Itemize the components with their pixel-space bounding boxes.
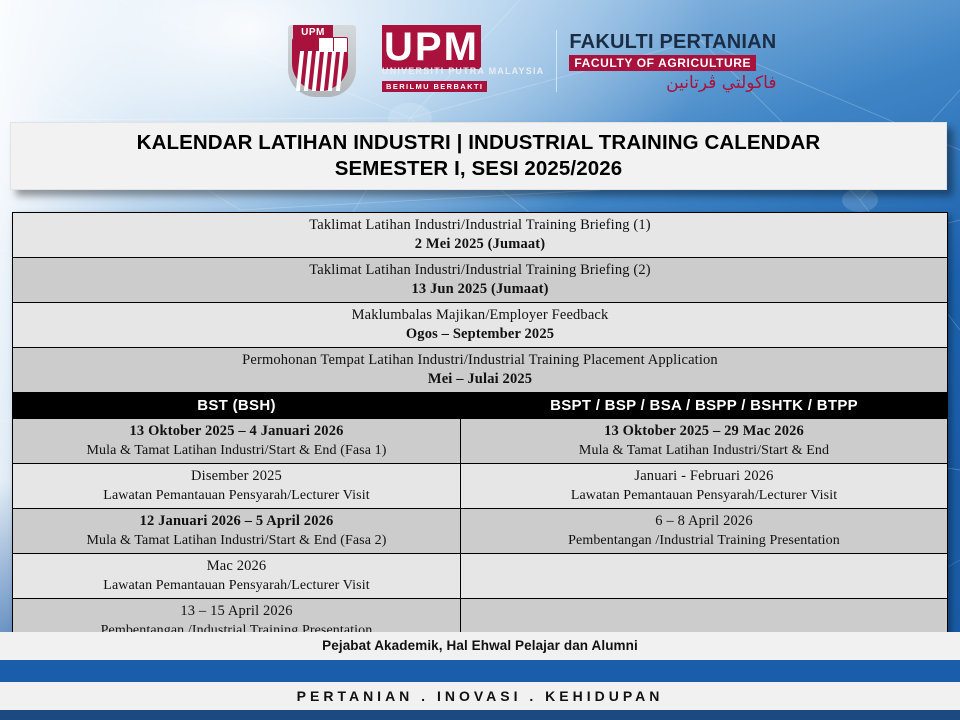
table-row: 12 Januari 2026 – 5 April 2026Mula & Tam…: [13, 509, 948, 554]
date-text: 13 Oktober 2025 – 4 Januari 2026: [17, 422, 456, 441]
calendar-cell-right: 13 Oktober 2025 – 29 Mac 2026Mula & Tama…: [461, 419, 948, 464]
crest-stripes-icon: [296, 51, 346, 91]
date-text: 6 – 8 April 2026: [465, 512, 943, 531]
activity-text: Maklumbalas Majikan/Employer Feedback: [17, 306, 943, 325]
activity-text: Lawatan Pemantauan Pensyarah/Lecturer Vi…: [17, 486, 456, 505]
faculty-name-ms: FAKULTI PERTANIAN: [569, 32, 776, 53]
footer-tagline-band: PERTANIAN . INOVASI . KEHIDUPAN: [0, 682, 960, 710]
table-row: Maklumbalas Majikan/Employer FeedbackOgo…: [13, 303, 948, 348]
activity-text: Lawatan Pemantauan Pensyarah/Lecturer Vi…: [465, 486, 943, 505]
date-text: 13 Oktober 2025 – 29 Mac 2026: [465, 422, 943, 441]
footer-tagline-text: PERTANIAN . INOVASI . KEHIDUPAN: [0, 682, 960, 710]
calendar-cell-left: 13 Oktober 2025 – 4 Januari 2026Mula & T…: [13, 419, 461, 464]
date-text: Disember 2025: [17, 467, 456, 486]
calendar-cell-left: Mac 2026Lawatan Pemantauan Pensyarah/Lec…: [13, 554, 461, 599]
activity-text: Pembentangan /Industrial Training Presen…: [465, 531, 943, 550]
calendar-cell-full: Maklumbalas Majikan/Employer FeedbackOgo…: [13, 303, 948, 348]
activity-text: Mula & Tamat Latihan Industri/Start & En…: [17, 441, 456, 460]
table-row: Taklimat Latihan Industri/Industrial Tra…: [13, 213, 948, 258]
faculty-name-jawi: فاكولتي ڤرتانين: [569, 73, 776, 93]
faculty-name-en: FACULTY OF AGRICULTURE: [569, 55, 756, 71]
header-band: UPM UPM UNIVERSITI PUTRA MALAYSIA BERILM…: [0, 0, 960, 118]
calendar-cell-left: Disember 2025Lawatan Pemantauan Pensyara…: [13, 464, 461, 509]
date-text: 12 Januari 2026 – 5 April 2026: [17, 512, 456, 531]
calendar-cell-right: 6 – 8 April 2026Pembentangan /Industrial…: [461, 509, 948, 554]
calendar-cell-right: [461, 554, 948, 599]
table-row: 13 Oktober 2025 – 4 Januari 2026Mula & T…: [13, 419, 948, 464]
calendar-cell-right: Januari - Februari 2026Lawatan Pemantaua…: [461, 464, 948, 509]
university-name: UNIVERSITI PUTRA MALAYSIA: [382, 66, 544, 76]
calendar-cell-full: Taklimat Latihan Industri/Industrial Tra…: [13, 213, 948, 258]
program-header-right: BSPT / BSP / BSA / BSPP / BSHTK / BTPP: [461, 393, 948, 419]
upm-wordmark: UPM UNIVERSITI PUTRA MALAYSIA BERILMU BE…: [370, 29, 544, 94]
date-text: Januari - Februari 2026: [465, 467, 943, 486]
program-header-row: BST (BSH)BSPT / BSP / BSA / BSPP / BSHTK…: [13, 393, 948, 419]
logo-lockup: UPM UPM UNIVERSITI PUTRA MALAYSIA BERILM…: [284, 22, 776, 100]
calendar-cell-full: Taklimat Latihan Industri/Industrial Tra…: [13, 258, 948, 303]
page-title-line1: KALENDAR LATIHAN INDUSTRI | INDUSTRIAL T…: [137, 130, 821, 156]
table-row: Permohonan Tempat Latihan Industri/Indus…: [13, 348, 948, 393]
calendar-cell-full: Permohonan Tempat Latihan Industri/Indus…: [13, 348, 948, 393]
date-text: Mei – Julai 2025: [17, 370, 943, 389]
page-title-line2: SEMESTER I, SESI 2025/2026: [335, 156, 622, 182]
upm-crest-icon: UPM: [284, 23, 360, 99]
faculty-lockup: FAKULTI PERTANIAN FACULTY OF AGRICULTURE…: [569, 30, 776, 93]
program-header-left: BST (BSH): [13, 393, 461, 419]
university-motto: BERILMU BERBAKTI: [382, 81, 487, 92]
activity-text: Mula & Tamat Latihan Industri/Start & En…: [465, 441, 943, 460]
footer-office-band: Pejabat Akademik, Hal Ehwal Pelajar dan …: [0, 632, 960, 660]
page-title-banner: KALENDAR LATIHAN INDUSTRI | INDUSTRIAL T…: [10, 122, 947, 190]
table-row: Taklimat Latihan Industri/Industrial Tra…: [13, 258, 948, 303]
activity-text: Taklimat Latihan Industri/Industrial Tra…: [17, 261, 943, 280]
date-text: 13 Jun 2025 (Jumaat): [17, 280, 943, 299]
table-row: Disember 2025Lawatan Pemantauan Pensyara…: [13, 464, 948, 509]
date-text: 2 Mei 2025 (Jumaat): [17, 235, 943, 254]
logo-divider: [556, 30, 557, 92]
date-text: Mac 2026: [17, 557, 456, 576]
activity-text: Taklimat Latihan Industri/Industrial Tra…: [17, 216, 943, 235]
footer-navy-strip: [0, 710, 960, 720]
calendar-cell-left: 12 Januari 2026 – 5 April 2026Mula & Tam…: [13, 509, 461, 554]
footer-office-text: Pejabat Akademik, Hal Ehwal Pelajar dan …: [0, 632, 960, 660]
date-text: Ogos – September 2025: [17, 325, 943, 344]
footer-blue-band: [0, 660, 960, 682]
activity-text: Lawatan Pemantauan Pensyarah/Lecturer Vi…: [17, 576, 456, 595]
activity-text: Permohonan Tempat Latihan Industri/Indus…: [17, 351, 943, 370]
upm-wordmark-text: UPM: [382, 25, 481, 69]
activity-text: Mula & Tamat Latihan Industri/Start & En…: [17, 531, 456, 550]
table-row: Mac 2026Lawatan Pemantauan Pensyarah/Lec…: [13, 554, 948, 599]
industrial-training-calendar-table: Taklimat Latihan Industri/Industrial Tra…: [12, 212, 948, 644]
date-text: 13 – 15 April 2026: [17, 602, 456, 621]
